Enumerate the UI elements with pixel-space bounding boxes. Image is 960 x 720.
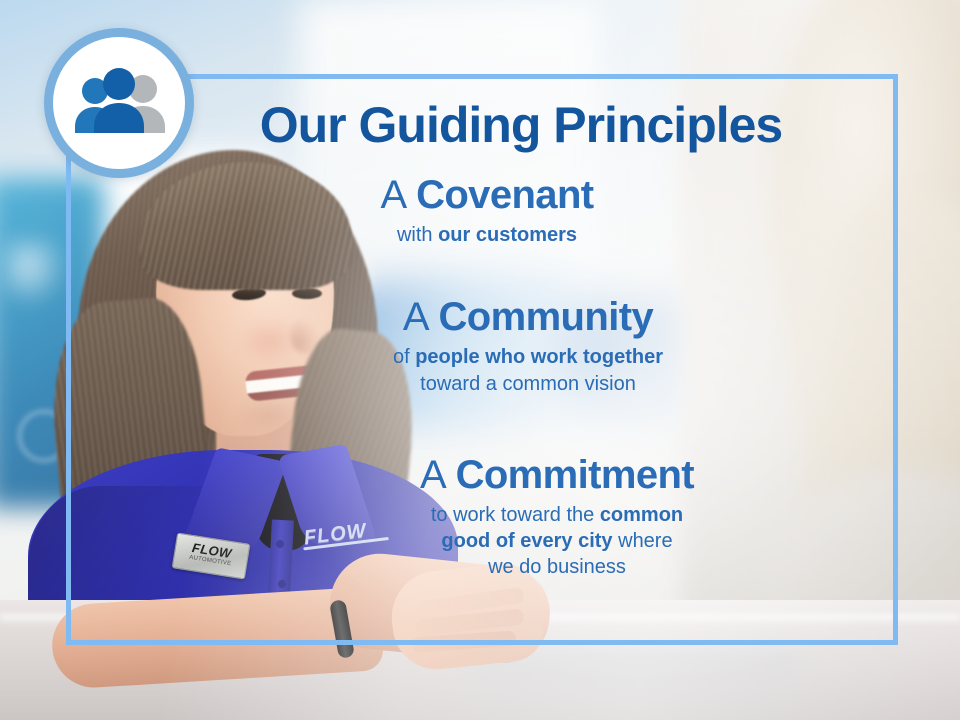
table-reflection [470, 650, 800, 720]
commitment-sub-2b: where [613, 530, 673, 552]
community-sub-1b: people who work together [415, 346, 663, 368]
community-sub-2a: toward a common vision [420, 373, 636, 395]
covenant-sub-part-2: our customers [438, 224, 577, 246]
commitment-sub-1b: common [600, 504, 683, 526]
commitment-sub-line-1: to work toward the common [216, 502, 898, 528]
commitment-sub-2a: good of every city [441, 530, 612, 552]
commitment-sub-1a: to work toward the [431, 504, 600, 526]
guiding-principles-graphic: FLOW FLOW AUTOMOTIVE [0, 0, 960, 720]
principle-community-article: A [403, 295, 439, 339]
principle-covenant-article: A [380, 173, 416, 217]
principle-commitment-word: Commitment [456, 453, 694, 497]
principle-community: A Community of people who work together … [66, 296, 898, 398]
commitment-sub-line-2: good of every city where [216, 528, 898, 554]
principle-commitment: A Commitment to work toward the common g… [66, 454, 898, 580]
principle-commitment-article: A [420, 453, 456, 497]
commitment-sub-line-3: we do business [216, 554, 898, 580]
principle-covenant-subtext: with our customers [76, 222, 898, 249]
principle-covenant-word: Covenant [416, 173, 593, 217]
community-sub-line-1: of people who work together [158, 344, 898, 371]
poster-highlight [2, 238, 68, 308]
community-sub-1a: of [393, 346, 415, 368]
principle-commitment-subtext: to work toward the common good of every … [216, 502, 898, 580]
covenant-sub-part-1: with [397, 224, 438, 246]
principle-community-heading: A Community [158, 296, 898, 338]
principle-commitment-heading: A Commitment [216, 454, 898, 496]
principle-covenant-heading: A Covenant [76, 174, 898, 216]
principle-community-subtext: of people who work together toward a com… [158, 344, 898, 398]
commitment-sub-3a: we do business [488, 556, 626, 578]
principle-covenant: A Covenant with our customers [66, 174, 898, 249]
text-content: Our Guiding Principles A Covenant with o… [66, 74, 898, 645]
page-title: Our Guiding Principles [66, 100, 898, 150]
community-sub-line-2: toward a common vision [158, 371, 898, 398]
principle-community-word: Community [438, 295, 653, 339]
